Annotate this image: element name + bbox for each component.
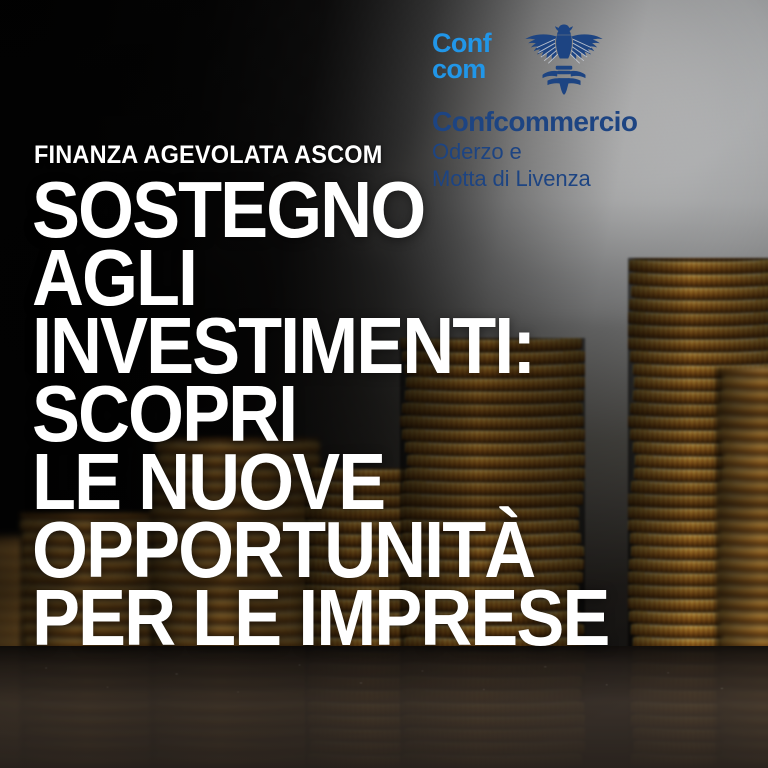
confcom-wordmark: Conf com bbox=[432, 30, 491, 82]
confcom-wordmark-line-2: com bbox=[432, 56, 491, 82]
organization-name-block: Confcommercio Oderzo e Motta di Livenza bbox=[432, 106, 732, 192]
promo-poster: FINANZA AGEVOLATA ASCOM SOSTEGNO AGLI IN… bbox=[0, 0, 768, 768]
organization-location-line-1: Oderzo e bbox=[432, 138, 732, 165]
page-title: SOSTEGNO AGLI INVESTIMENTI: SCOPRI LE NU… bbox=[32, 176, 662, 652]
organization-location-line-2: Motta di Livenza bbox=[432, 165, 732, 192]
organization-name: Confcommercio bbox=[432, 106, 732, 138]
poster-content: FINANZA AGEVOLATA ASCOM SOSTEGNO AGLI IN… bbox=[0, 0, 768, 768]
confcom-wordmark-line-1: Conf bbox=[432, 30, 491, 56]
headline-line-7: PER LE IMPRESE bbox=[32, 584, 662, 652]
confcommercio-eagle-icon bbox=[522, 22, 606, 98]
